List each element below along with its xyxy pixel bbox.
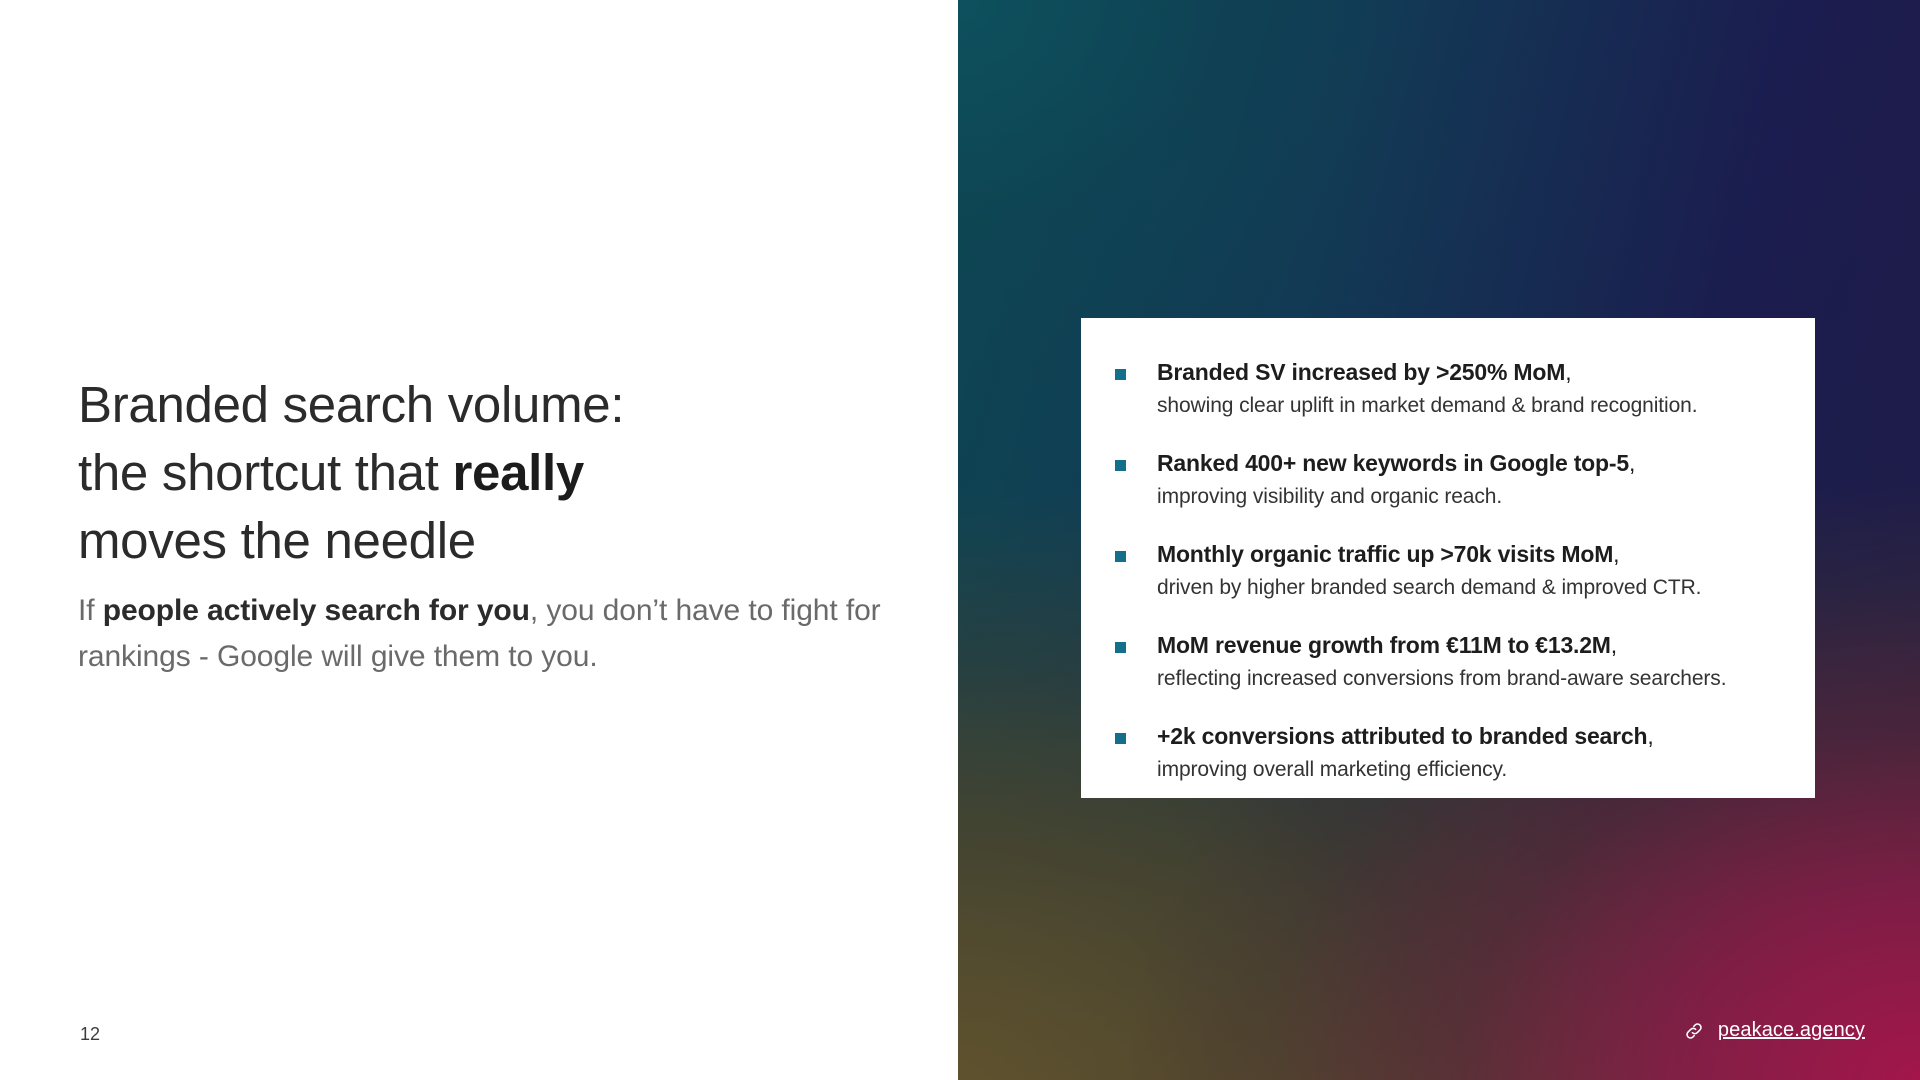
bullet-list: Branded SV increased by >250% MoM, showi… [1097,356,1775,785]
bullet-title-tail: , [1647,723,1653,749]
bullet-subtext: improving overall marketing efficiency. [1157,754,1775,785]
bullet-square-icon [1115,460,1126,471]
bullet-title-text: MoM revenue growth from €11M to €13.2M [1157,632,1611,658]
bullet-subtext: improving visibility and organic reach. [1157,481,1775,512]
bullet-title-tail: , [1565,359,1571,385]
headline-line-1: Branded search volume: [78,376,624,433]
bullet-square-icon [1115,642,1126,653]
bullet-title-tail: , [1613,541,1619,567]
bullet-title: +2k conversions attributed to branded se… [1157,720,1775,753]
list-item: MoM revenue growth from €11M to €13.2M, … [1097,629,1775,694]
bullet-title-tail: , [1629,450,1635,476]
list-item: Monthly organic traffic up >70k visits M… [1097,538,1775,603]
slide-root: Branded search volume: the shortcut that… [0,0,1920,1080]
footer-link-text: peakace.agency [1718,1019,1865,1042]
page-subtitle: If people actively search for you, you d… [78,588,908,680]
bullet-title-text: +2k conversions attributed to branded se… [1157,723,1647,749]
bullet-title: Monthly organic traffic up >70k visits M… [1157,538,1775,571]
page-number: 12 [80,1024,100,1045]
bullet-title-text: Branded SV increased by >250% MoM [1157,359,1565,385]
bullet-square-icon [1115,733,1126,744]
left-content-panel: Branded search volume: the shortcut that… [0,0,958,1080]
bullet-title: Ranked 400+ new keywords in Google top-5… [1157,447,1775,480]
bullet-title: Branded SV increased by >250% MoM, [1157,356,1775,389]
bullet-subtext: reflecting increased conversions from br… [1157,663,1775,694]
bullet-title-text: Ranked 400+ new keywords in Google top-5 [1157,450,1629,476]
highlights-card: Branded SV increased by >250% MoM, showi… [1081,318,1815,798]
bullet-title-tail: , [1611,632,1617,658]
right-gradient-panel: Branded SV increased by >250% MoM, showi… [958,0,1920,1080]
headline-line-2-prefix: the shortcut that [78,444,453,501]
list-item: +2k conversions attributed to branded se… [1097,720,1775,785]
page-title: Branded search volume: the shortcut that… [78,371,898,575]
subtitle-prefix: If [78,594,103,627]
bullet-title: MoM revenue growth from €11M to €13.2M, [1157,629,1775,662]
bullet-subtext: showing clear uplift in market demand & … [1157,390,1775,421]
list-item: Ranked 400+ new keywords in Google top-5… [1097,447,1775,512]
headline-emphasis: really [453,444,584,501]
list-item: Branded SV increased by >250% MoM, showi… [1097,356,1775,421]
bullet-square-icon [1115,551,1126,562]
headline-line-3: moves the needle [78,512,476,569]
subtitle-emphasis: people actively search for you [103,594,530,627]
bullet-title-text: Monthly organic traffic up >70k visits M… [1157,541,1613,567]
bullet-square-icon [1115,369,1126,380]
link-chain-icon [1683,1020,1705,1042]
bullet-subtext: driven by higher branded search demand &… [1157,572,1775,603]
footer-website-link[interactable]: peakace.agency [1683,1019,1865,1042]
